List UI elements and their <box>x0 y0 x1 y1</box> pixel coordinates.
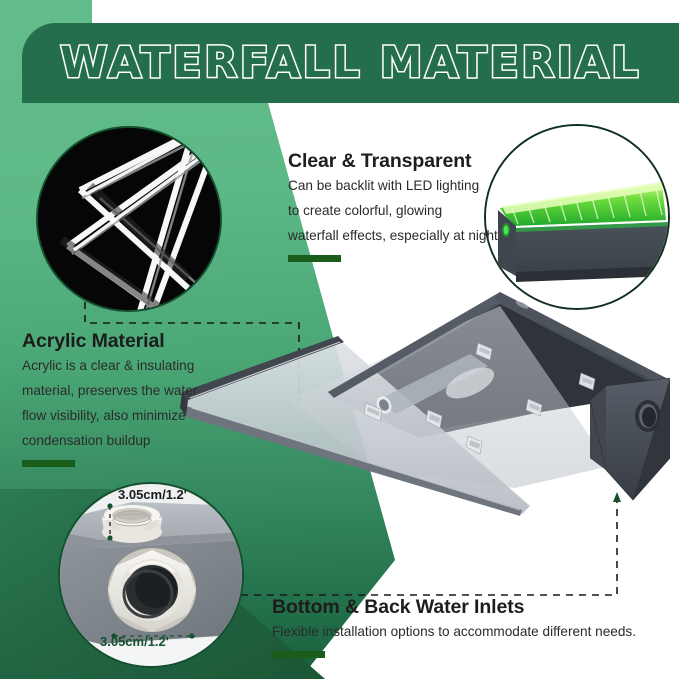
dimension-label-top-inlet: 3.05cm/1.2' <box>118 487 187 502</box>
infographic-canvas: WATERFALL MATERIAL <box>0 0 679 679</box>
feature-underline-clear-transparent <box>288 255 341 262</box>
feature-body-acrylic-material: Acrylic is a clear & insulating material… <box>22 353 197 453</box>
feature-block-clear-transparent: Clear & Transparent Can be backlit with … <box>288 150 498 262</box>
header-banner: WATERFALL MATERIAL <box>22 23 679 103</box>
feature-body-line: waterfall effects, especially at night <box>288 223 498 248</box>
feature-body-line: Acrylic is a clear & insulating <box>22 353 197 378</box>
led-backlit-spillway-photo <box>484 124 670 310</box>
feature-underline-bottom-back-water-inlets <box>272 651 325 658</box>
feature-body-line: material, preserves the water <box>22 378 197 403</box>
feature-body-clear-transparent: Can be backlit with LED lighting to crea… <box>288 173 498 248</box>
feature-title-clear-transparent: Clear & Transparent <box>288 150 498 173</box>
feature-title-bottom-back-water-inlets: Bottom & Back Water Inlets <box>272 596 636 619</box>
feature-body-line: flow visibility, also minimize <box>22 403 197 428</box>
feature-body-bottom-back-water-inlets: Flexible installation options to accommo… <box>272 619 636 644</box>
feature-block-bottom-back-water-inlets: Bottom & Back Water Inlets Flexible inst… <box>272 596 636 658</box>
feature-block-acrylic-material: Acrylic Material Acrylic is a clear & in… <box>22 330 197 467</box>
feature-body-line: Can be backlit with LED lighting <box>288 173 498 198</box>
feature-underline-acrylic-material <box>22 460 75 467</box>
acrylic-sheets-photo <box>36 126 222 312</box>
page-title: WATERFALL MATERIAL <box>60 38 641 88</box>
dimension-label-back-inlet: 3.05cm/1.2' <box>100 634 169 649</box>
feature-title-acrylic-material: Acrylic Material <box>22 330 197 353</box>
feature-body-line: Flexible installation options to accommo… <box>272 619 636 644</box>
feature-body-line: condensation buildup <box>22 428 197 453</box>
product-hero-image <box>170 288 670 523</box>
feature-body-line: to create colorful, glowing <box>288 198 498 223</box>
